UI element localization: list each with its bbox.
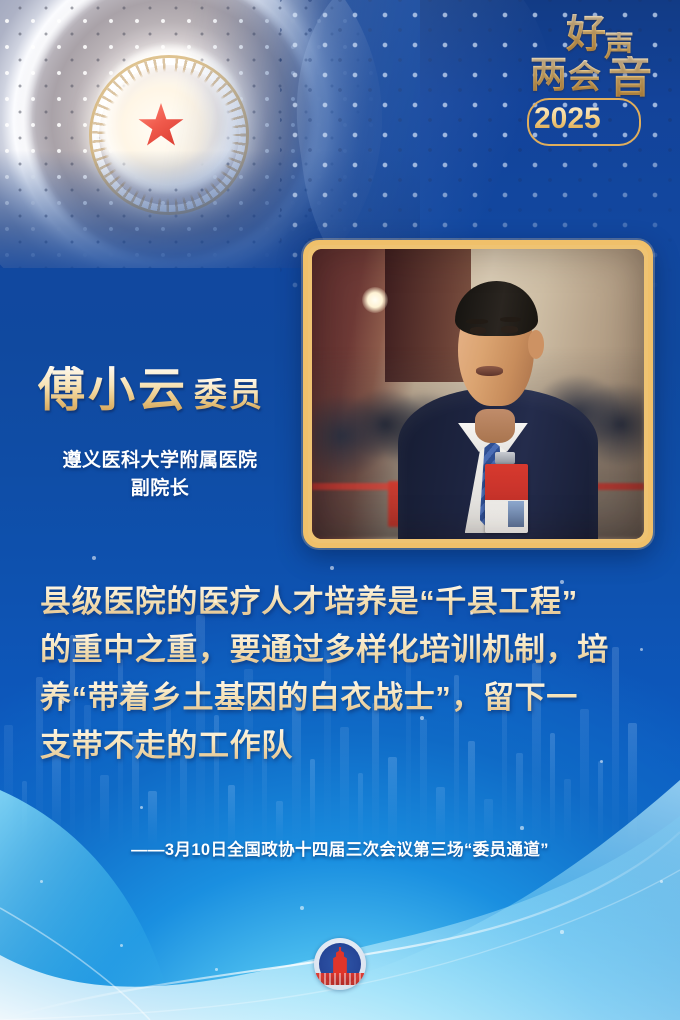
brand-year-label: 2025	[534, 104, 601, 134]
speaker-name-row: 傅小云 委员	[38, 366, 308, 413]
program-brand-logo: 好 声 两 会 音 2025	[530, 12, 662, 160]
xinhua-logo-band	[314, 973, 366, 985]
sparkle-dot	[520, 826, 524, 830]
speaker-affiliation: 遵义医科大学附属医院 副院长	[38, 447, 282, 502]
brand-char-hao: 好	[566, 14, 606, 54]
speaker-affiliation-line2: 副院长	[38, 475, 282, 503]
xinhua-logo-icon	[314, 938, 366, 990]
sparkle-dot	[40, 880, 43, 883]
speaker-photo-frame	[303, 240, 653, 548]
quote-line-3: 养“带着乡土基因的白衣战士”，留下一	[40, 678, 640, 719]
quote-line-1: 县级医院的医疗人才培养是“千县工程”	[40, 582, 640, 623]
poster-root: 好 声 两 会 音 2025	[0, 0, 680, 1020]
sparkle-dot	[560, 930, 564, 934]
sparkle-dot	[60, 700, 64, 704]
brand-char-yin: 音	[608, 56, 652, 100]
speaker-photo	[312, 249, 644, 539]
sparkle-dot	[660, 880, 663, 883]
brand-char-liang: 两	[530, 56, 567, 93]
speaker-role-suffix: 委员	[194, 378, 264, 413]
sparkle-dot	[92, 556, 96, 560]
sparkle-dot	[560, 580, 564, 584]
brand-char-hui: 会	[568, 60, 601, 93]
photo-vignette	[312, 249, 644, 539]
sparkle-dot	[300, 906, 304, 910]
sparkle-dot	[330, 566, 334, 570]
sparkle-dot	[420, 716, 424, 720]
speaker-affiliation-line1: 遵义医科大学附属医院	[38, 447, 282, 475]
speaker-name: 傅小云	[38, 366, 188, 413]
quote-line-2: 的重中之重，要通过多样化培训机制，培	[40, 630, 640, 671]
sparkle-dot	[215, 968, 218, 971]
